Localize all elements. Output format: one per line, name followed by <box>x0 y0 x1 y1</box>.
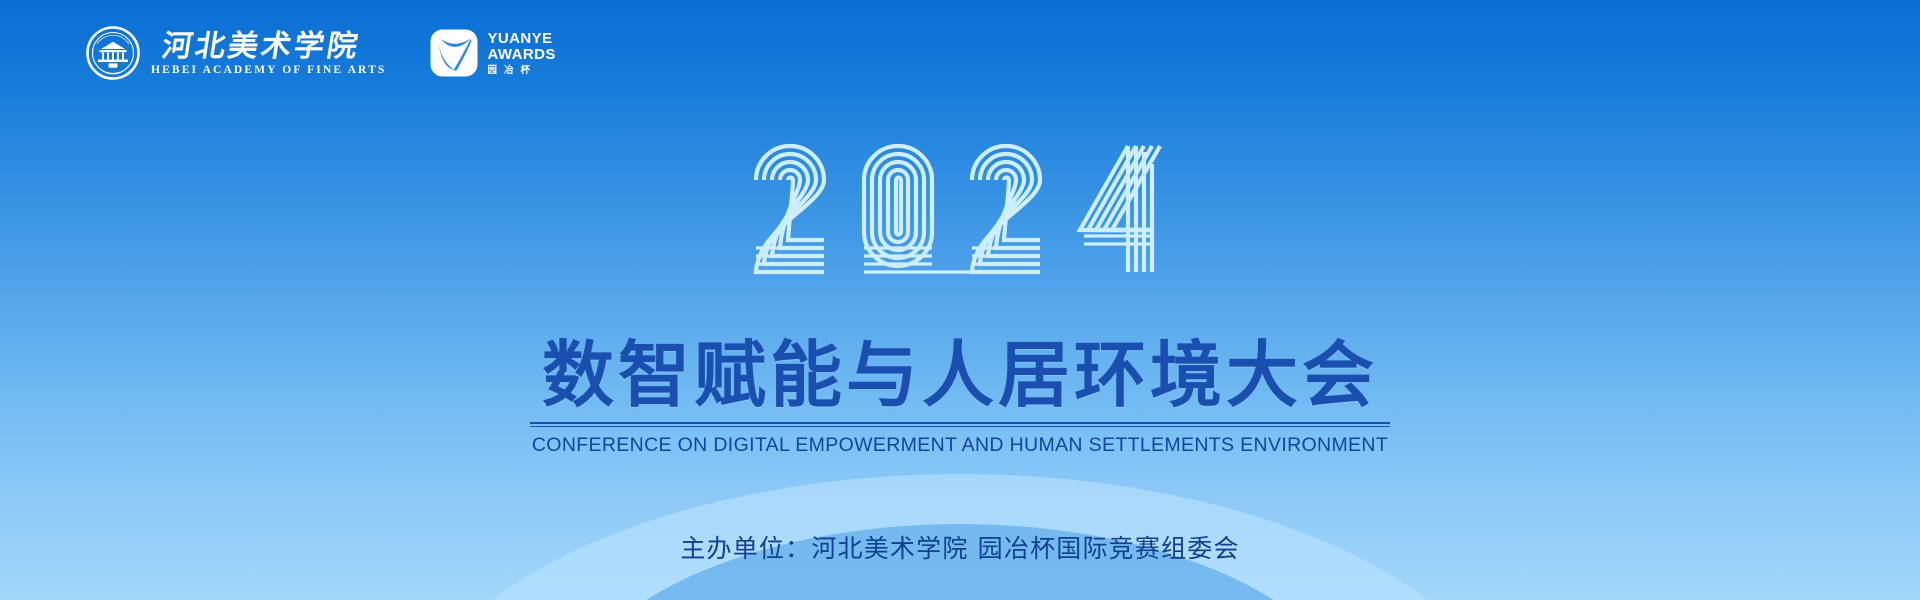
hebei-academy-name-en: HEBEI ACADEMY OF FINE ARTS <box>151 65 386 77</box>
svg-text:河北美术学院: 河北美术学院 <box>159 29 363 63</box>
yuanye-awards-wordmark: YUANYE AWARDS 园 冶 杯 <box>487 31 555 76</box>
page-title-cn: 数智赋能与人居环境大会 <box>530 338 1390 414</box>
hebei-academy-wordmark: 河北美术学院 HEBEI ACADEMY OF FINE ARTS <box>151 29 386 77</box>
yuanye-cn-chars: 园 冶 杯 <box>487 66 555 76</box>
organizer-line: 主办单位：河北美术学院 园冶杯国际竞赛组委会 <box>680 534 1239 564</box>
yuanye-cn-char-1: 园 <box>487 66 497 76</box>
logo-row: 河北美术学院 HEBEI ACADEMY OF FINE ARTS YUANYE… <box>86 26 556 80</box>
title-block: 数智赋能与人居环境大会 CONFERENCE ON DIGITAL EMPOWE… <box>530 338 1390 457</box>
year-2024-graphic <box>750 132 1170 292</box>
hebei-academy-name-cn: 河北美术学院 <box>151 29 386 63</box>
yuanye-cn-char-2: 冶 <box>504 66 514 76</box>
title-divider-rules <box>530 422 1390 428</box>
yuanye-cn-char-3: 杯 <box>521 66 531 76</box>
title-rule-top <box>530 422 1390 424</box>
yuanye-awards-logo[interactable]: YUANYE AWARDS 园 冶 杯 <box>430 29 555 77</box>
conference-banner: 河北美术学院 HEBEI ACADEMY OF FINE ARTS YUANYE… <box>0 0 1920 600</box>
title-rule-bottom <box>530 426 1390 427</box>
yuanye-line1: YUANYE <box>487 31 555 47</box>
hebei-academy-seal-icon <box>86 26 140 80</box>
hebei-academy-logo[interactable]: 河北美术学院 HEBEI ACADEMY OF FINE ARTS <box>86 26 386 80</box>
yuanye-awards-mark-icon <box>430 29 478 77</box>
page-title-en: CONFERENCE ON DIGITAL EMPOWERMENT AND HU… <box>530 434 1390 457</box>
yuanye-line2: AWARDS <box>487 47 555 63</box>
